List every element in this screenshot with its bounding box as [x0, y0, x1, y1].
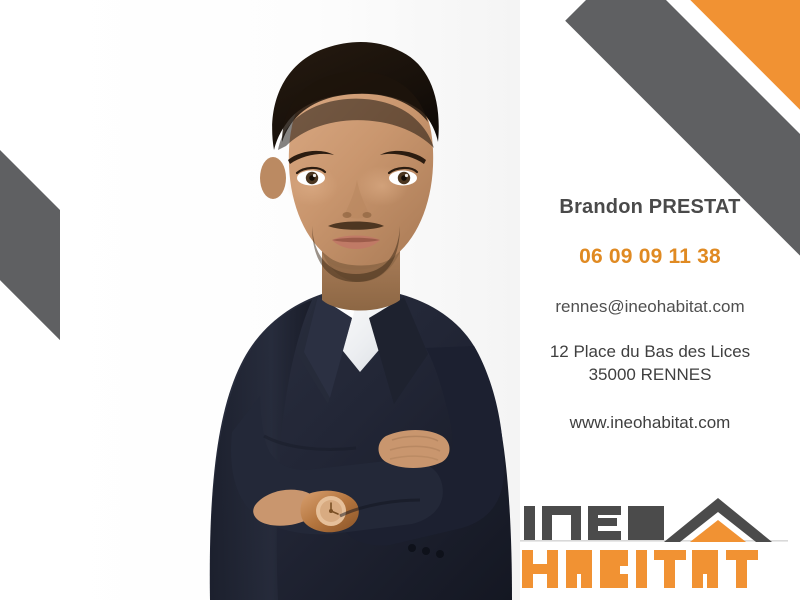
contact-block: Brandon PRESTAT 06 09 09 11 38 rennes@in…	[500, 196, 800, 433]
business-card: Brandon PRESTAT 06 09 09 11 38 rennes@in…	[0, 0, 800, 600]
roof-chevron-icon	[664, 498, 772, 542]
logo-ineo-text	[524, 506, 664, 540]
contact-phone[interactable]: 06 09 09 11 38	[500, 245, 800, 269]
logo-divider	[520, 540, 788, 542]
ineo-habitat-logo[interactable]	[520, 492, 788, 592]
address-line-2: 35000 RENNES	[589, 365, 712, 384]
contact-email[interactable]: rennes@ineohabitat.com	[500, 297, 800, 317]
logo-habitat-text	[522, 550, 758, 588]
address-line-1: 12 Place du Bas des Lices	[550, 342, 750, 361]
portrait-photo	[60, 0, 520, 600]
contact-address: 12 Place du Bas des Lices 35000 RENNES	[500, 341, 800, 387]
contact-name: Brandon PRESTAT	[500, 196, 800, 219]
contact-website[interactable]: www.ineohabitat.com	[500, 413, 800, 433]
